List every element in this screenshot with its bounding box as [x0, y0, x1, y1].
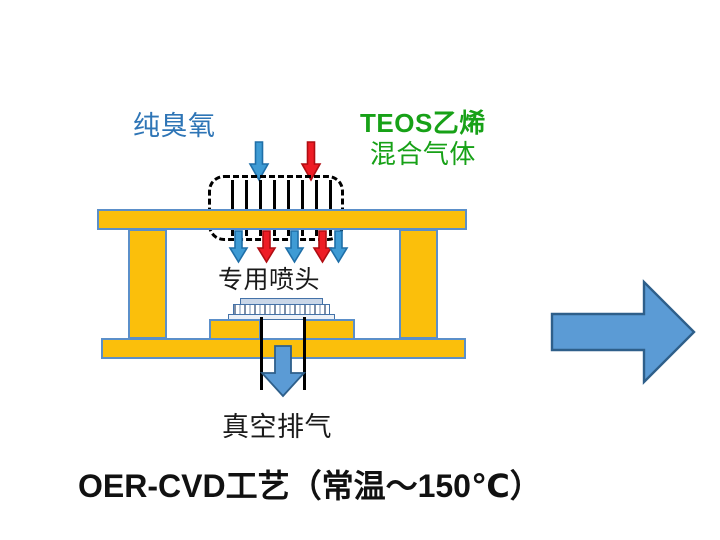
jet-arrow-teos-icon: [258, 231, 275, 262]
diagram-canvas: 纯臭氧 TEOS乙烯 混合气体 专用喷头 真空排气 OER-CVD工艺（常温～1…: [0, 0, 720, 540]
chamber-left-column: [128, 229, 167, 339]
flow-direction-arrow-icon: [552, 282, 694, 382]
chamber-right-column: [399, 229, 438, 339]
label-teos-line1: TEOS乙烯: [360, 108, 486, 138]
label-dedicated-showerhead: 专用喷头: [218, 266, 320, 296]
label-vacuum-exhaust: 真空排气: [222, 412, 332, 444]
chamber-top-plate: [97, 209, 467, 230]
pedestal-left-block: [209, 319, 261, 340]
label-pure-ozone: 纯臭氧: [133, 111, 216, 143]
jet-arrow-ozone-icon: [330, 231, 347, 262]
pedestal-right-block: [303, 319, 355, 340]
caption-process-title: OER-CVD工艺（常温～150℃）: [78, 468, 542, 506]
label-teos-line2: 混合气体: [360, 139, 486, 170]
jet-arrow-ozone-icon: [286, 231, 303, 262]
jet-arrow-teos-icon: [314, 231, 331, 262]
exhaust-arrow-icon: [262, 346, 304, 396]
label-teos-gas-mixture: TEOS乙烯 混合气体: [360, 108, 486, 169]
jet-arrow-ozone-icon: [230, 231, 247, 262]
